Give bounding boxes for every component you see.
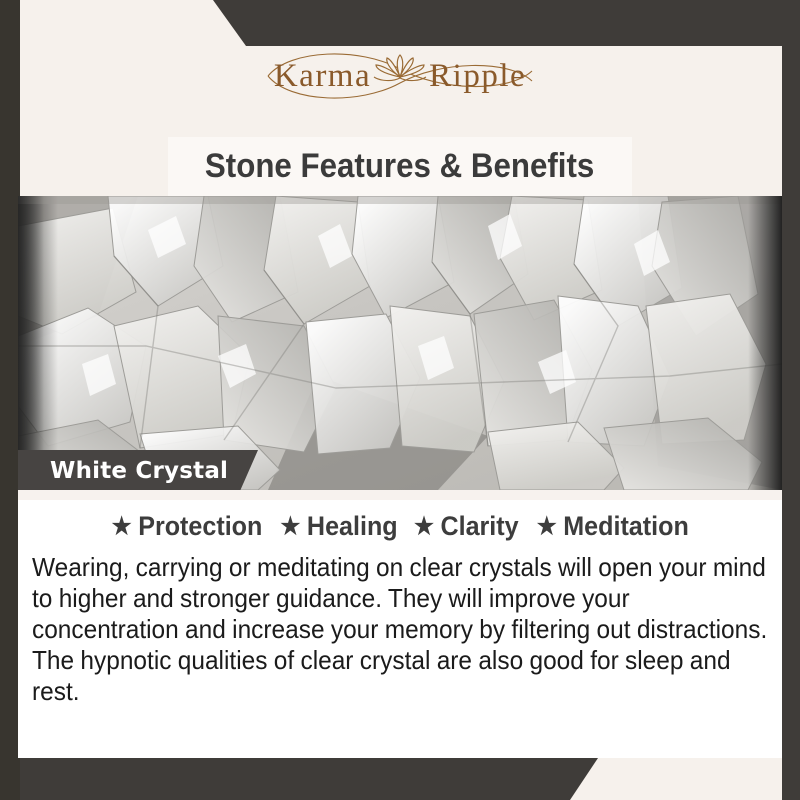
brand-name-left: Karma <box>274 58 371 95</box>
stone-name-label: White Crystal <box>18 458 228 484</box>
frame-border-left <box>0 0 20 800</box>
page-title: Stone Features & Benefits <box>205 147 594 186</box>
description-paragraph: Wearing, carrying or meditating on clear… <box>32 552 775 707</box>
brand-name-right: Ripple <box>429 58 526 95</box>
star-icon: ★ <box>414 515 434 539</box>
frame-border-right <box>782 0 800 800</box>
hero-vignette-right <box>748 196 782 490</box>
star-icon: ★ <box>280 515 300 539</box>
corner-accent-bottom-left <box>0 758 800 800</box>
crystal-cluster-illustration <box>18 196 782 490</box>
star-icon: ★ <box>536 515 556 539</box>
hero-vignette-left <box>18 196 44 490</box>
star-icon: ★ <box>112 515 132 539</box>
benefit-item: ★ Protection <box>108 511 266 542</box>
title-band: Stone Features & Benefits <box>168 137 632 196</box>
benefit-label: Clarity <box>440 511 518 542</box>
content-panel: ★ Protection ★ Healing ★ Clarity ★ Medit… <box>18 500 782 758</box>
stone-name-banner: White Crystal <box>18 450 258 491</box>
brand-logo: Karma Ripple <box>0 36 800 116</box>
benefit-item: ★ Meditation <box>533 511 693 542</box>
benefit-label: Protection <box>138 511 262 542</box>
benefits-row: ★ Protection ★ Healing ★ Clarity ★ Medit… <box>18 511 782 542</box>
benefit-item: ★ Clarity <box>410 511 522 542</box>
benefit-item: ★ Healing <box>277 511 402 542</box>
infographic-card: Karma Ripple Stone Features & Benefits <box>0 0 800 800</box>
benefit-label: Meditation <box>563 511 689 542</box>
benefit-label: Healing <box>307 511 398 542</box>
crystal-photo <box>18 196 782 490</box>
